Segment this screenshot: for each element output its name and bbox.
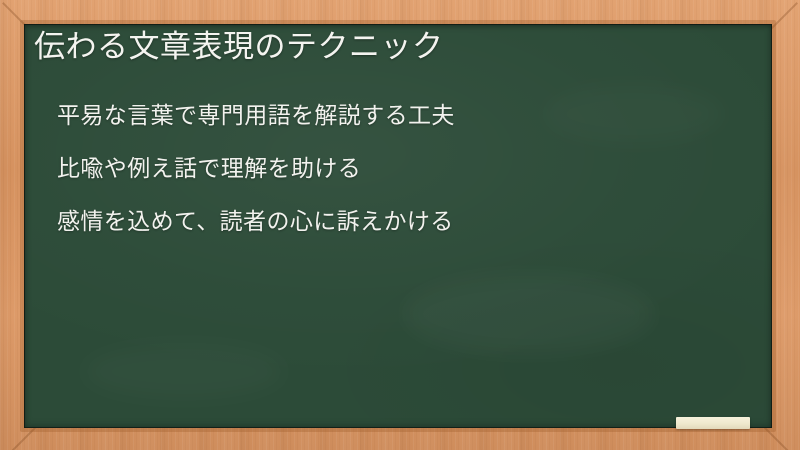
bullet-item: 平易な言葉で専門用語を解説する工夫	[57, 104, 747, 127]
chalk-stick	[676, 417, 750, 429]
slide-canvas: 伝わる文章表現のテクニック 平易な言葉で専門用語を解説する工夫 比喩や例え話で理…	[0, 0, 800, 450]
slide-title: 伝わる文章表現のテクニック	[34, 28, 744, 67]
chalkboard-surface: 伝わる文章表現のテクニック 平易な言葉で専門用語を解説する工夫 比喩や例え話で理…	[24, 24, 772, 428]
chalk-smudge	[404, 274, 654, 354]
bullet-list: 平易な言葉で専門用語を解説する工夫 比喩や例え話で理解を助ける 感情を込めて、読…	[57, 104, 747, 233]
chalk-smudge	[84, 344, 284, 399]
bullet-item: 感情を込めて、読者の心に訴えかける	[57, 210, 747, 233]
bullet-item: 比喩や例え話で理解を助ける	[57, 157, 747, 180]
